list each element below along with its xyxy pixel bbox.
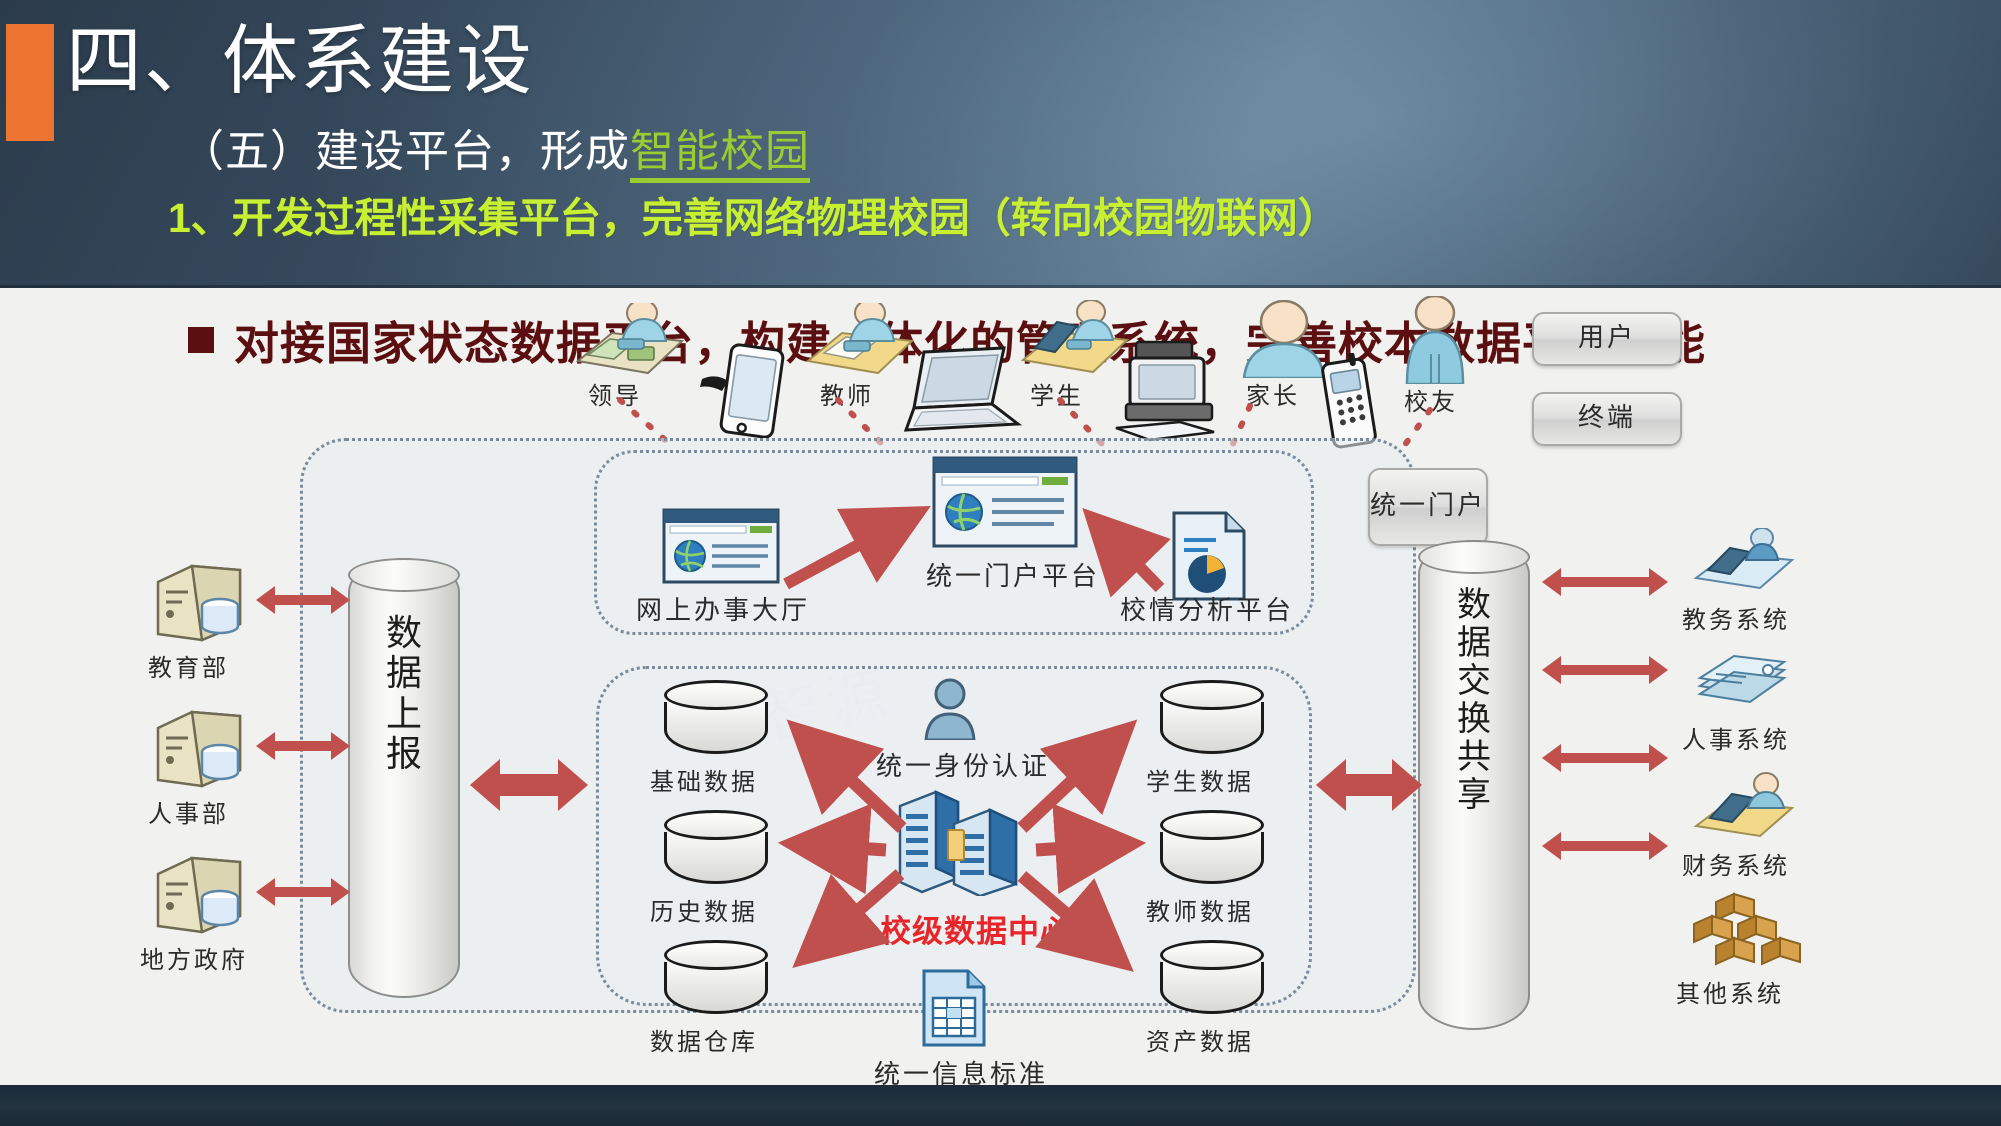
pillar-to-core-arrow-right bbox=[1344, 774, 1394, 796]
system-arrow-other bbox=[1560, 841, 1650, 851]
pillar-cap bbox=[348, 558, 460, 592]
boxes-stack-icon bbox=[1692, 892, 1802, 968]
system-label-academic: 教务系统 bbox=[1682, 600, 1790, 635]
system-label-finance: 财务系统 bbox=[1682, 846, 1790, 881]
server-db-icon-hr bbox=[152, 708, 250, 790]
server-db-icon-moe bbox=[152, 562, 250, 644]
source-arrow-gov bbox=[274, 887, 332, 897]
subtitle-highlight: 智能校园 bbox=[630, 127, 810, 183]
slide-root: 四、体系建设 （五）建设平台，形成智能校园 1、开发过程性采集平台，完善网络物理… bbox=[0, 0, 2001, 1126]
person-at-laptop-icon-finance bbox=[1690, 772, 1798, 842]
system-label-hr: 人事系统 bbox=[1682, 720, 1790, 755]
accent-bar bbox=[6, 24, 54, 141]
system-label-other: 其他系统 bbox=[1676, 974, 1784, 1009]
server-db-icon-gov bbox=[152, 854, 250, 936]
slide-body: 对接国家状态数据平台，构建一体化的管理系统，完善校本数据平台功能 智源 领导 bbox=[0, 288, 2001, 1085]
subtitle: （五）建设平台，形成智能校园 bbox=[180, 130, 810, 174]
data-report-pillar: 数 据 上 报 bbox=[348, 558, 460, 998]
pillar-to-core-arrow-left bbox=[498, 774, 560, 796]
page-title: 四、体系建设 bbox=[66, 22, 534, 103]
source-label-gov: 地方政府 bbox=[140, 940, 248, 975]
data-exchange-pillar-label: 数 据 交 换 共 享 bbox=[1420, 586, 1528, 814]
system-arrow-hr bbox=[1560, 665, 1650, 675]
data-exchange-pillar: 数 据 交 换 共 享 bbox=[1418, 540, 1530, 1030]
system-arrow-finance bbox=[1560, 753, 1650, 763]
documents-stack-icon bbox=[1694, 652, 1790, 714]
person-at-laptop-icon-academic bbox=[1690, 528, 1798, 594]
source-arrow-hr bbox=[274, 741, 332, 751]
subtitle-prefix: （五）建设平台，形成 bbox=[180, 127, 630, 176]
source-label-moe: 教育部 bbox=[148, 648, 229, 683]
system-arrow-academic bbox=[1560, 577, 1650, 587]
pillar-cap bbox=[1418, 540, 1530, 574]
slide-header: 四、体系建设 （五）建设平台，形成智能校园 1、开发过程性采集平台，完善网络物理… bbox=[0, 0, 2001, 288]
data-report-pillar-label: 数 据 上 报 bbox=[350, 614, 458, 775]
subtitle-line3: 1、开发过程性采集平台，完善网络物理校园（转向校园物联网） bbox=[168, 198, 1339, 239]
source-arrow-moe bbox=[274, 595, 332, 605]
source-label-hr: 人事部 bbox=[148, 794, 229, 829]
slide-footer bbox=[0, 1085, 2001, 1126]
